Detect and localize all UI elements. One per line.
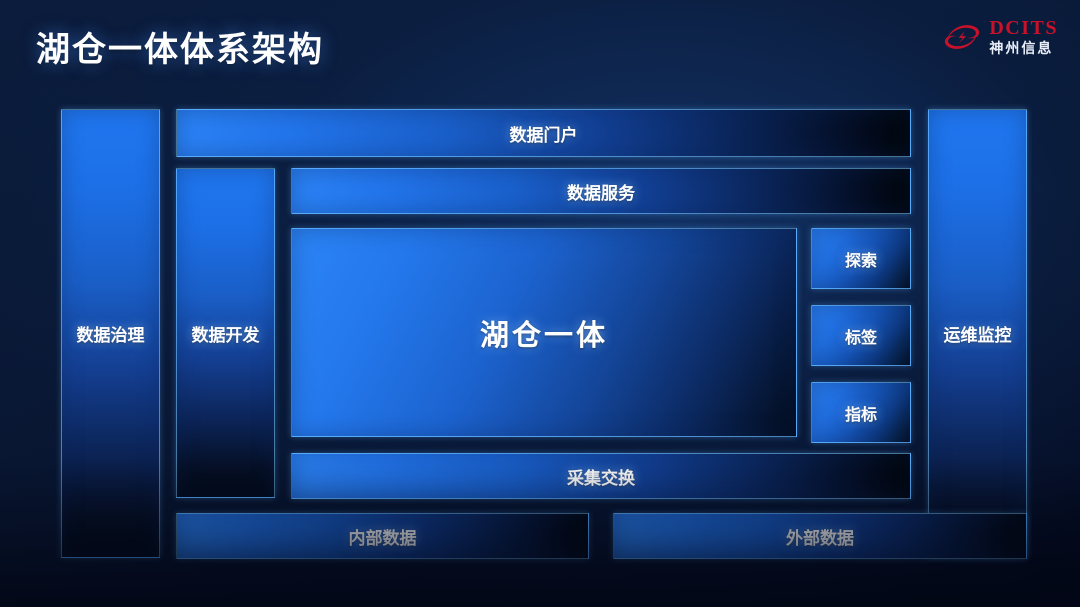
slide-canvas: 湖仓一体体系架构 DCITS 神州信息 数据治理 运维监控 数据门户 数据开发 … — [0, 0, 1080, 607]
bar-internal-data[interactable]: 内部数据 — [176, 513, 589, 559]
panel-ops-monitoring[interactable]: 运维监控 — [928, 109, 1027, 558]
bar-collect-exchange-label: 采集交换 — [567, 464, 635, 489]
panel-lakehouse-core-label: 湖仓一体 — [480, 312, 608, 354]
panel-ops-monitoring-label: 运维监控 — [944, 321, 1012, 346]
panel-data-development[interactable]: 数据开发 — [176, 168, 275, 498]
brand-text: DCITS 神州信息 — [989, 18, 1058, 55]
brand-logo: DCITS 神州信息 — [942, 18, 1058, 55]
bar-collect-exchange[interactable]: 采集交换 — [291, 453, 911, 499]
brand-name-en: DCITS — [989, 18, 1058, 38]
panel-data-governance[interactable]: 数据治理 — [61, 109, 160, 558]
tile-exploration[interactable]: 探索 — [811, 228, 911, 289]
panel-data-governance-label: 数据治理 — [77, 321, 145, 346]
tile-metrics-label: 指标 — [845, 401, 877, 425]
tile-exploration-label: 探索 — [845, 247, 877, 271]
bar-data-portal[interactable]: 数据门户 — [176, 109, 911, 157]
swirl-icon — [942, 20, 982, 54]
bar-external-data[interactable]: 外部数据 — [613, 513, 1027, 559]
panel-data-development-label: 数据开发 — [192, 321, 260, 346]
bar-data-portal-label: 数据门户 — [510, 121, 578, 146]
bar-data-service-label: 数据服务 — [567, 179, 635, 204]
brand-name-cn: 神州信息 — [989, 41, 1058, 55]
panel-lakehouse-core[interactable]: 湖仓一体 — [291, 228, 797, 437]
tile-metrics[interactable]: 指标 — [811, 382, 911, 443]
bar-external-data-label: 外部数据 — [786, 524, 854, 549]
bar-internal-data-label: 内部数据 — [349, 524, 417, 549]
page-title: 湖仓一体体系架构 — [36, 22, 324, 71]
bar-data-service[interactable]: 数据服务 — [291, 168, 911, 214]
tile-tagging-label: 标签 — [845, 324, 877, 348]
tile-tagging[interactable]: 标签 — [811, 305, 911, 366]
